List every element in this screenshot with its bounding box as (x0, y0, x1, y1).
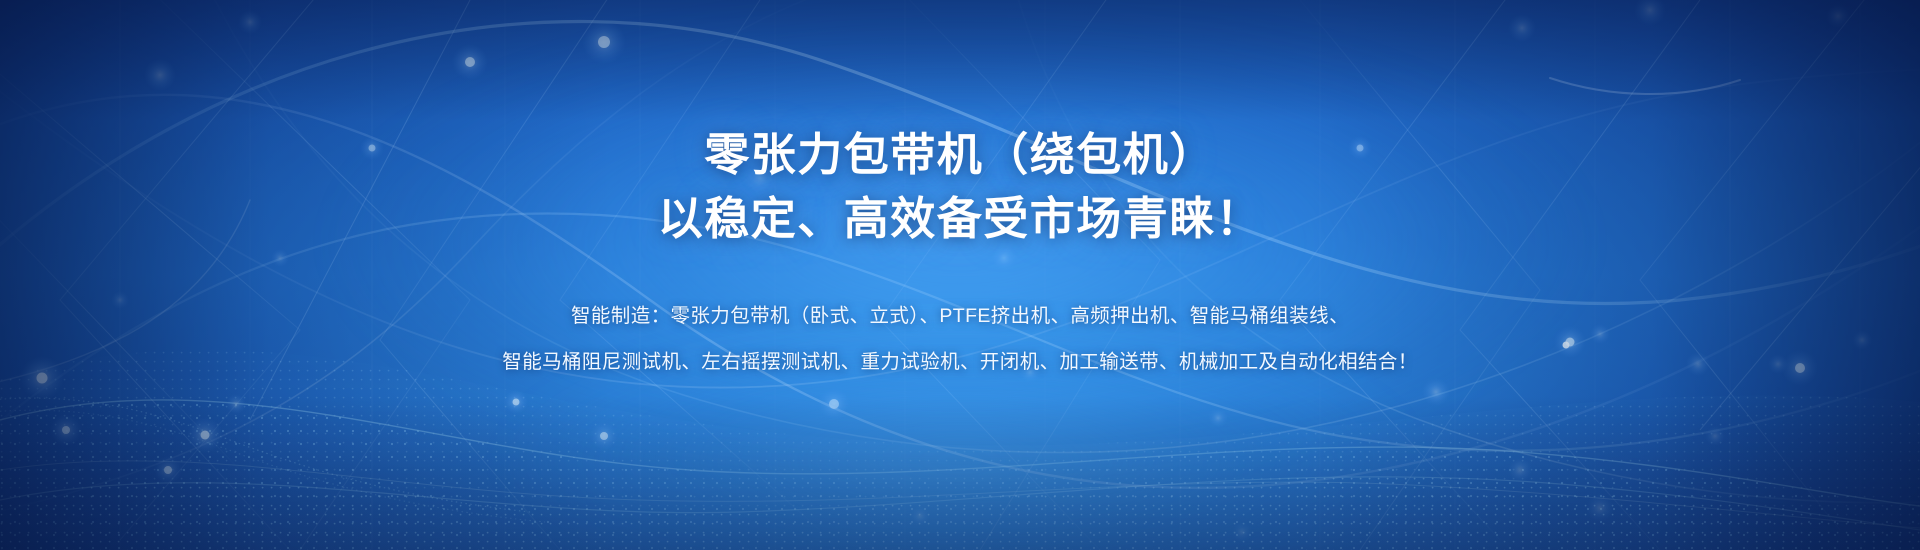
subtitle-line-2: 智能马桶阻尼测试机、左右摇摆测试机、重力试验机、开闭机、加工输送带、机械加工及自… (502, 351, 1417, 374)
hero-banner: 零张力包带机（绕包机） 以稳定、高效备受市场青睐！ 智能制造：零张力包带机（卧式… (0, 0, 1920, 550)
banner-headline: 零张力包带机（绕包机） 以稳定、高效备受市场青睐！ (658, 126, 1263, 248)
headline-line-1: 零张力包带机（绕包机） (658, 126, 1263, 184)
banner-content: 零张力包带机（绕包机） 以稳定、高效备受市场青睐！ 智能制造：零张力包带机（卧式… (0, 0, 1920, 550)
subtitle-line-1: 智能制造：零张力包带机（卧式、立式）、PTFE挤出机、高频押出机、智能马桶组装线… (502, 305, 1417, 328)
banner-subtitle: 智能制造：零张力包带机（卧式、立式）、PTFE挤出机、高频押出机、智能马桶组装线… (502, 305, 1417, 374)
headline-line-2: 以稳定、高效备受市场青睐！ (658, 190, 1263, 248)
